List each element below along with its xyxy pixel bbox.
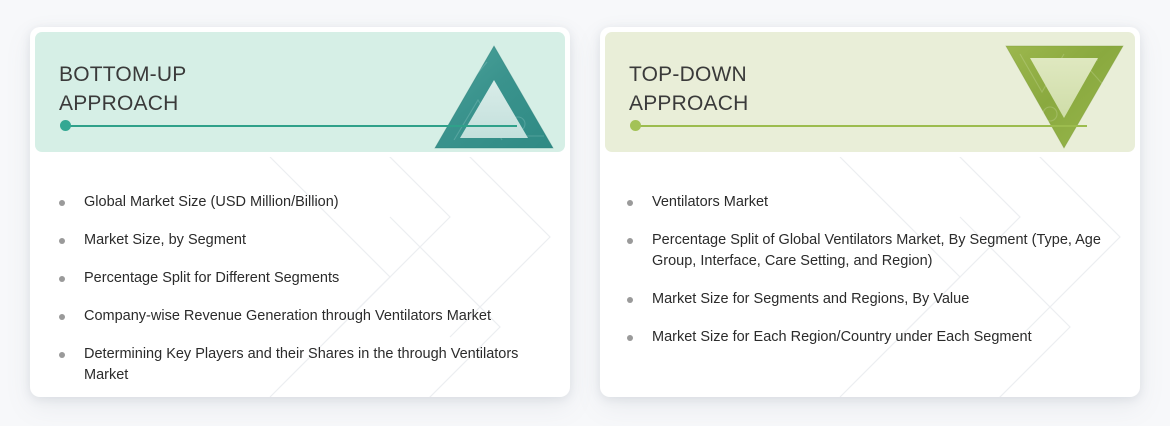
list-item: Percentage Split of Global Ventilators M… [624, 230, 1110, 272]
panel-title-bottom-up: BOTTOM-UP APPROACH [59, 60, 186, 118]
list-item: Company-wise Revenue Generation through … [56, 306, 536, 327]
list-item: Global Market Size (USD Million/Billion) [56, 192, 536, 213]
list-item-label: Determining Key Players and their Shares… [84, 344, 536, 386]
triangle-down-icon [1002, 40, 1127, 152]
list-item: Percentage Split for Different Segments [56, 268, 536, 289]
list-item-label: Ventilators Market [652, 192, 1110, 213]
accent-line [65, 125, 517, 127]
bullet-icon [627, 335, 633, 341]
accent-dot [60, 120, 71, 131]
bullet-icon [627, 238, 633, 244]
list-item: Ventilators Market [624, 192, 1110, 213]
list-item: Market Size for Each Region/Country unde… [624, 327, 1110, 348]
header-band-bottom-up: BOTTOM-UP APPROACH [35, 32, 565, 152]
list-item-label: Percentage Split of Global Ventilators M… [652, 230, 1110, 272]
bullet-icon [59, 276, 65, 282]
bullet-icon [59, 314, 65, 320]
list-item-label: Market Size, by Segment [84, 230, 536, 251]
header-band-top-down: TOP-DOWN APPROACH [605, 32, 1135, 152]
accent-line [635, 125, 1087, 127]
list-item-label: Percentage Split for Different Segments [84, 268, 536, 289]
list-item: Determining Key Players and their Shares… [56, 344, 536, 386]
list-item-label: Global Market Size (USD Million/Billion) [84, 192, 536, 213]
panel-top-down: TOP-DOWN APPROACH [600, 27, 1140, 397]
panel-bottom-up: BOTTOM-UP APPROACH [30, 27, 570, 397]
approach-comparison-stage: BOTTOM-UP APPROACH [0, 0, 1170, 426]
bullet-icon [59, 352, 65, 358]
list-top-down: Ventilators Market Percentage Split of G… [624, 192, 1110, 348]
bullet-icon [627, 297, 633, 303]
accent-dot [630, 120, 641, 131]
bullet-icon [59, 238, 65, 244]
triangle-up-icon [432, 40, 557, 152]
bullet-icon [59, 200, 65, 206]
list-bottom-up: Global Market Size (USD Million/Billion)… [56, 192, 536, 386]
panel-title-top-down: TOP-DOWN APPROACH [629, 60, 748, 118]
list-item-label: Company-wise Revenue Generation through … [84, 306, 536, 327]
list-item-label: Market Size for Each Region/Country unde… [652, 327, 1110, 348]
list-item-label: Market Size for Segments and Regions, By… [652, 289, 1110, 310]
bullet-icon [627, 200, 633, 206]
list-item: Market Size for Segments and Regions, By… [624, 289, 1110, 310]
list-item: Market Size, by Segment [56, 230, 536, 251]
